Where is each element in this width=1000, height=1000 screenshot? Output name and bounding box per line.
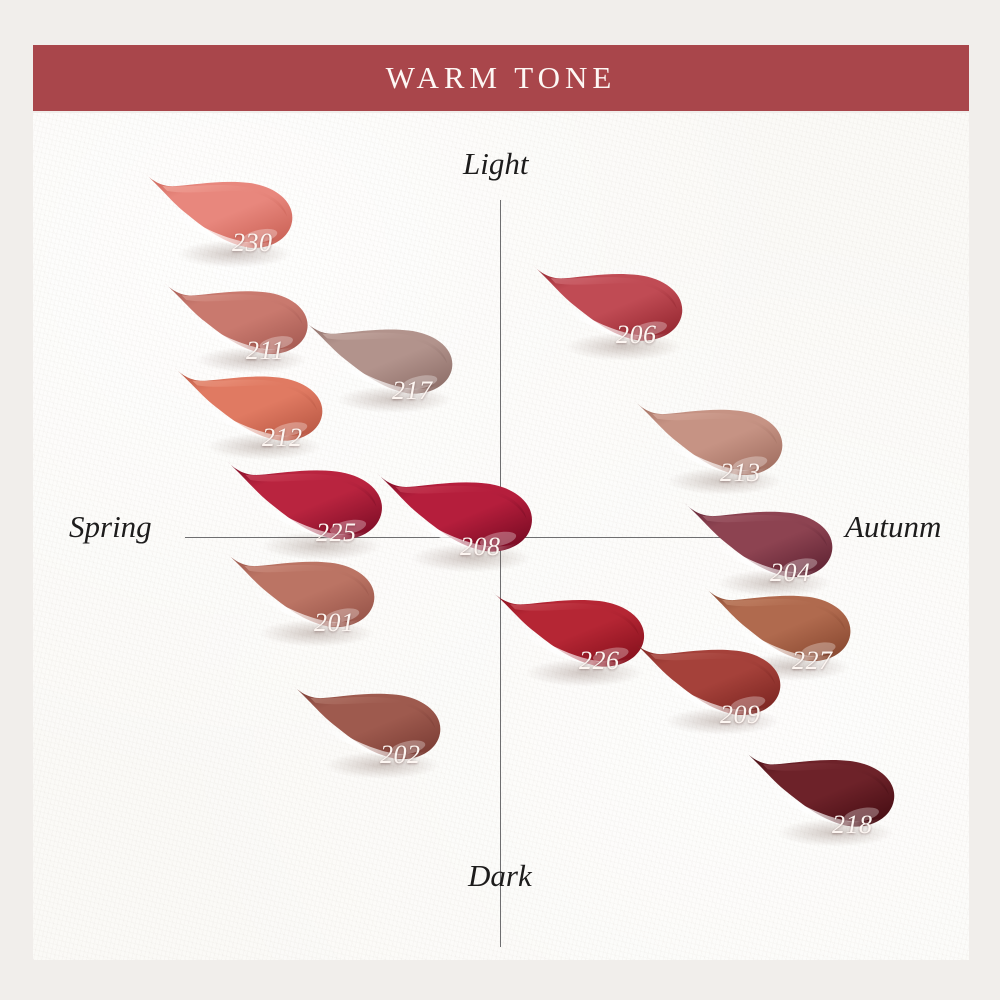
axis-label-light: Light <box>463 146 528 182</box>
lipstick-swatch-201: 201 <box>222 550 382 654</box>
swatch-shape-208 <box>372 470 540 580</box>
swatch-shape-212 <box>170 365 330 467</box>
lipstick-swatch-206: 206 <box>528 262 690 368</box>
axis-label-dark: Dark <box>468 858 532 894</box>
swatch-shape-209 <box>628 638 788 742</box>
swatch-shape-213 <box>630 398 790 502</box>
swatch-shape-230 <box>140 170 300 275</box>
swatch-shape-206 <box>528 262 690 368</box>
axis-label-autumn: Autunm <box>845 509 941 545</box>
axis-label-spring: Spring <box>69 509 152 545</box>
lipstick-swatch-212: 212 <box>170 365 330 467</box>
lipstick-swatch-208: 208 <box>372 470 540 580</box>
page-title: WARM TONE <box>386 60 617 96</box>
header-banner: WARM TONE <box>33 45 969 111</box>
lipstick-swatch-202: 202 <box>288 682 448 786</box>
chart-panel: Light Dark Spring Autunm 230211217212225… <box>33 113 969 960</box>
lipstick-swatch-230: 230 <box>140 170 300 275</box>
swatch-shape-202 <box>288 682 448 786</box>
lipstick-swatch-218: 218 <box>740 748 902 854</box>
swatch-shape-218 <box>740 748 902 854</box>
warm-tone-shade-chart: WARM TONE Light Dark Spring Autunm 23021… <box>0 0 1000 1000</box>
lipstick-swatch-213: 213 <box>630 398 790 502</box>
swatch-shape-201 <box>222 550 382 654</box>
lipstick-swatch-209: 209 <box>628 638 788 742</box>
